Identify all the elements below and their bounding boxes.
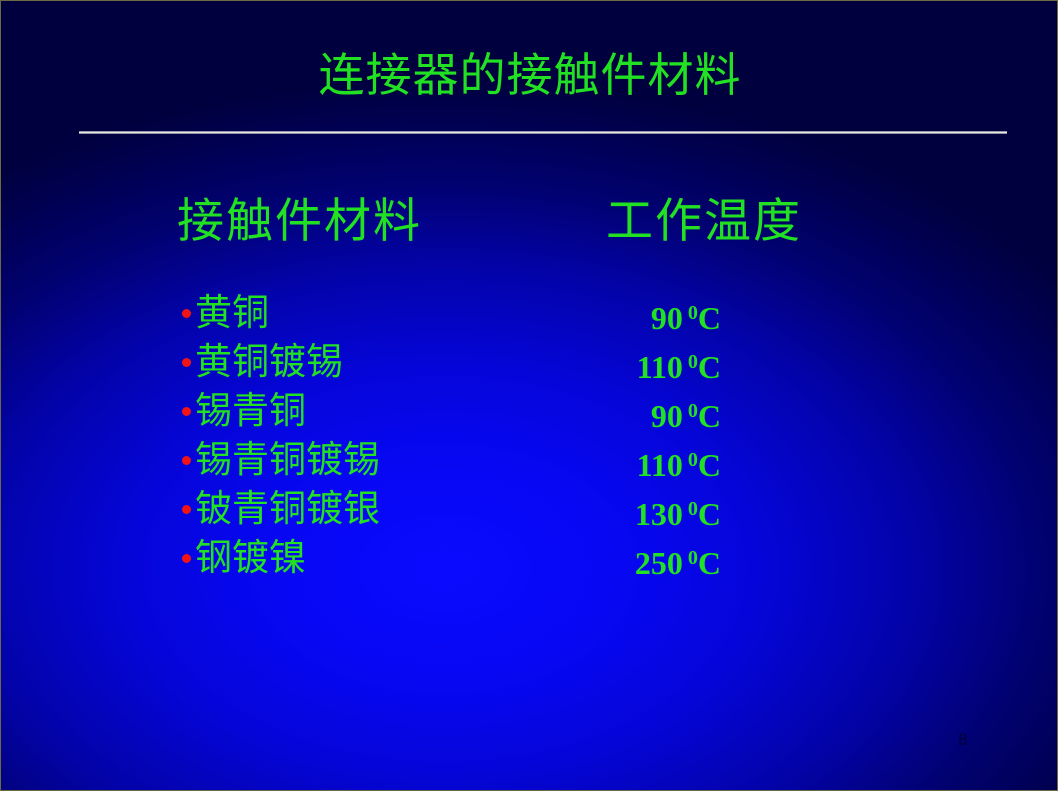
temperature-unit: C — [698, 545, 721, 581]
material-temperature-list: 黄铜 900C 黄铜镀锡 1100C 锡青铜 900C 锡青铜镀锡 1100C … — [181, 289, 721, 583]
temperature-value: 2500C — [421, 534, 721, 588]
bullet-icon — [182, 554, 191, 563]
degree-symbol: 0 — [688, 547, 698, 569]
temperature-number: 90 — [651, 398, 683, 434]
title-divider-rule — [79, 131, 1007, 134]
column-headers: 接触件材料 工作温度 — [177, 193, 817, 253]
material-label: 铍青铜镀银 — [195, 485, 380, 534]
temperature-unit: C — [698, 349, 721, 385]
material-label: 锡青铜 — [195, 387, 306, 436]
bullet-icon — [182, 309, 191, 318]
temperature-number: 130 — [635, 496, 683, 532]
degree-symbol: 0 — [688, 498, 698, 520]
list-item: 黄铜 900C — [181, 289, 721, 338]
temperature-value: 1100C — [421, 338, 721, 392]
column-header-materials: 接触件材料 — [177, 193, 422, 251]
temperature-number: 110 — [637, 349, 683, 385]
temperature-unit: C — [698, 300, 721, 336]
bullet-icon — [182, 407, 191, 416]
temperature-value: 900C — [421, 387, 721, 441]
material-label: 锡青铜镀锡 — [195, 436, 380, 485]
material-label: 黄铜镀锡 — [195, 338, 343, 387]
list-item: 锡青铜镀锡 1100C — [181, 436, 721, 485]
temperature-unit: C — [698, 447, 721, 483]
material-label: 黄铜 — [195, 289, 269, 338]
page-number: 8 — [948, 729, 978, 751]
list-item: 黄铜镀锡 1100C — [181, 338, 721, 387]
presentation-slide: 连接器的接触件材料 接触件材料 工作温度 黄铜 900C 黄铜镀锡 1100C … — [0, 0, 1058, 791]
temperature-value: 1100C — [421, 436, 721, 490]
material-label: 钢镀镍 — [195, 534, 306, 583]
temperature-value: 1300C — [421, 485, 721, 539]
temperature-number: 90 — [651, 300, 683, 336]
bullet-icon — [182, 456, 191, 465]
list-item: 钢镀镍 2500C — [181, 534, 721, 583]
temperature-value: 900C — [421, 289, 721, 343]
degree-symbol: 0 — [688, 351, 698, 373]
degree-symbol: 0 — [688, 302, 698, 324]
degree-symbol: 0 — [688, 400, 698, 422]
temperature-number: 110 — [637, 447, 683, 483]
list-item: 铍青铜镀银 1300C — [181, 485, 721, 534]
degree-symbol: 0 — [688, 449, 698, 471]
column-header-temperature: 工作温度 — [606, 193, 802, 251]
slide-title: 连接器的接触件材料 — [1, 49, 1058, 103]
list-item: 锡青铜 900C — [181, 387, 721, 436]
temperature-unit: C — [698, 398, 721, 434]
temperature-number: 250 — [635, 545, 683, 581]
temperature-unit: C — [698, 496, 721, 532]
bullet-icon — [182, 358, 191, 367]
bullet-icon — [182, 505, 191, 514]
